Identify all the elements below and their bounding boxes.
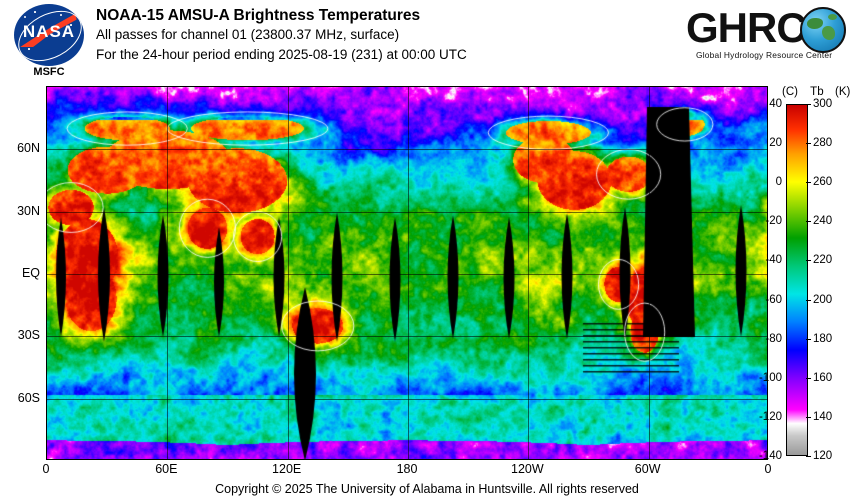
colorbar-gradient — [787, 105, 807, 455]
longitude-tick-5: 60W — [635, 462, 661, 476]
colorbar-variable: Tb — [810, 86, 823, 98]
longitude-tick-2: 120E — [272, 462, 301, 476]
page-title: NOAA-15 AMSU-A Brightness Temperatures — [96, 6, 467, 25]
colorbar — [786, 104, 808, 456]
copyright-notice: Copyright © 2025 The University of Alaba… — [0, 482, 854, 496]
ghrc-logo: GHRC Global Hydrology Resource Center — [686, 4, 848, 72]
colorbar-kelvin-tick-9: 120 — [813, 450, 832, 462]
longitude-tick-1: 60E — [155, 462, 177, 476]
colorbar-kelvin-ticks: 300280260240220200180160140120 — [810, 104, 850, 456]
colorbar-kelvin-tick-8: 140 — [813, 411, 832, 423]
title-block: NOAA-15 AMSU-A Brightness Temperatures A… — [96, 6, 467, 65]
colorbar-kelvin-tick-7: 160 — [813, 372, 832, 384]
colorbar-celsius-tick-2: 0 — [752, 176, 782, 188]
longitude-tick-4: 120W — [511, 462, 544, 476]
colorbar-header: (C) Tb (K) — [782, 86, 850, 98]
colorbar-kelvin-tick-6: 180 — [813, 333, 832, 345]
colorbar-kelvin-tick-4: 220 — [813, 254, 832, 266]
colorbar-celsius-tick-1: 20 — [752, 137, 782, 149]
map-frame — [46, 86, 768, 460]
colorbar-celsius-tick-6: -80 — [752, 333, 782, 345]
longitude-tick-0: 0 — [43, 462, 50, 476]
latitude-tick-1: 30N — [17, 204, 40, 218]
ghrc-wordmark: GHRC — [686, 4, 806, 52]
nasa-meatball-icon: NASA — [14, 4, 84, 66]
longitude-tick-3: 180 — [397, 462, 418, 476]
ghrc-caption: Global Hydrology Resource Center — [696, 50, 832, 60]
colorbar-kelvin-tick-5: 200 — [813, 294, 832, 306]
colorbar-kelvin-tick-0: 300 — [813, 98, 832, 110]
colorbar-kelvin-tick-2: 260 — [813, 176, 832, 188]
colorbar-celsius-ticks: 40200-20-40-60-80-100-120-140 — [752, 104, 784, 456]
colorbar-kelvin-tick-1: 280 — [813, 137, 832, 149]
latitude-tick-4: 60S — [18, 391, 40, 405]
latitude-tick-2: EQ — [22, 266, 40, 280]
screenshot-root: NASA MSFC NOAA-15 AMSU-A Brightness Temp… — [0, 0, 854, 502]
map-panel — [46, 86, 768, 460]
colorbar-celsius-tick-4: -40 — [752, 254, 782, 266]
msfc-label: MSFC — [6, 66, 92, 78]
latitude-axis: 60N30NEQ30S60S — [0, 86, 44, 460]
colorbar-celsius-tick-5: -60 — [752, 294, 782, 306]
longitude-tick-6: 0 — [765, 462, 772, 476]
colorbar-celsius-tick-3: -20 — [752, 215, 782, 227]
colorbar-celsius-tick-8: -120 — [752, 411, 782, 423]
colorbar-celsius-tick-9: -140 — [752, 450, 782, 462]
colorbar-unit-celsius: (C) — [782, 86, 798, 98]
nasa-logo: NASA MSFC — [6, 4, 92, 84]
colorbar-kelvin-tick-3: 240 — [813, 215, 832, 227]
title-subline-1: All passes for channel 01 (23800.37 MHz,… — [96, 25, 467, 45]
title-subline-2: For the 24-hour period ending 2025-08-19… — [96, 45, 467, 65]
colorbar-celsius-tick-7: -100 — [752, 372, 782, 384]
latitude-tick-3: 30S — [18, 328, 40, 342]
globe-icon — [800, 7, 846, 53]
colorbar-unit-kelvin: (K) — [835, 86, 850, 98]
colorbar-celsius-tick-0: 40 — [752, 98, 782, 110]
latitude-tick-0: 60N — [17, 141, 40, 155]
longitude-axis: 060E120E180120W60W0 — [46, 462, 768, 480]
